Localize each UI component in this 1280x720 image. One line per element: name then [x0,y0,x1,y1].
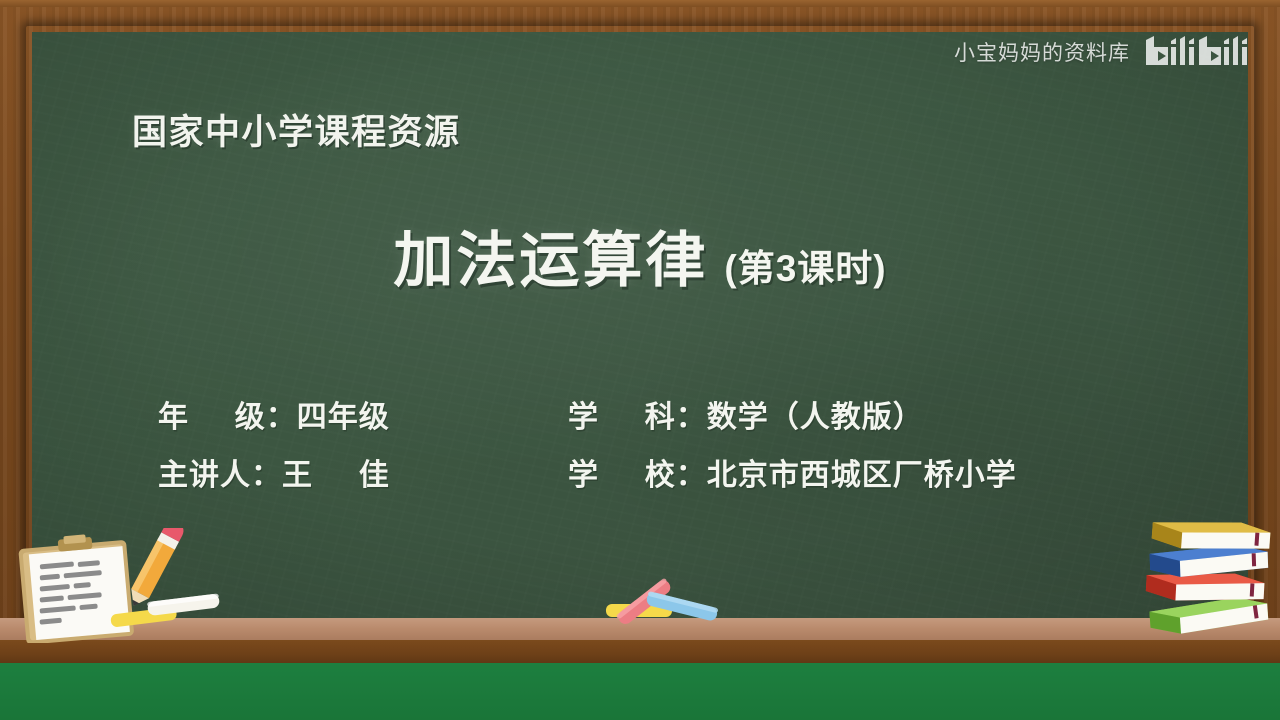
bilibili-logo-icon [1144,34,1252,70]
platform-brand-title: 国家中小学课程资源 [132,104,461,155]
frame-top-highlight [0,0,1280,7]
watermark-uploader-name: 小宝妈妈的资料库 [954,37,1130,67]
subject-row: 学 科：数学（人教版） [502,392,1248,436]
chalk-ledge-front [0,640,1280,664]
chalk-sticks-left-icon [100,588,230,628]
lesson-title-slide: 小宝妈妈的资料库 [0,0,1280,720]
lesson-metadata: 年 级：四年级 学 科：数学（人教版） 主讲人：王 佳 学 校：北京市西城区厂桥… [32,392,1248,494]
lesson-session-number: (第3课时) [724,238,886,292]
chalk-sticks-center-icon [596,578,726,626]
book-stack-icon [1134,508,1274,638]
grade-row: 年 级：四年级 [32,392,502,436]
watermark: 小宝妈妈的资料库 [954,34,1252,70]
school-row: 学 校：北京市西城区厂桥小学 [502,450,1248,494]
slide-bottom-green-band [0,663,1280,720]
teacher-row: 主讲人：王 佳 [32,450,502,494]
lesson-title: 加法运算律 [393,212,708,299]
lesson-title-block: 加法运算律(第3课时) [0,212,1280,299]
